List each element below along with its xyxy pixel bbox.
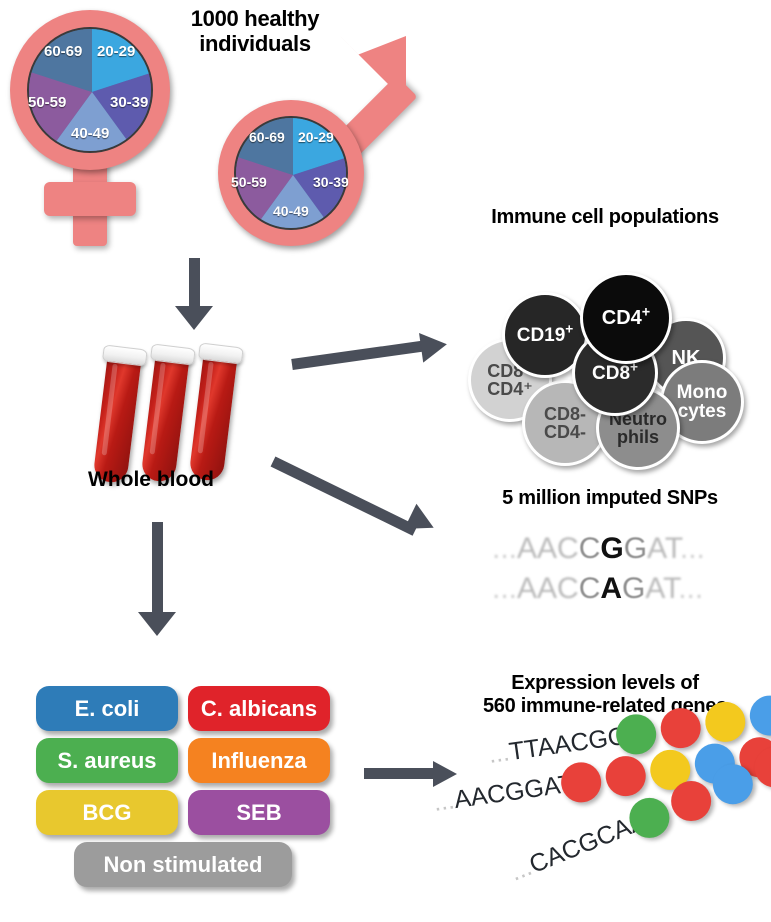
immune-cell-label: CD8-CD4- (544, 405, 586, 441)
pie-label-male-60-69: 60-69 (249, 129, 285, 145)
section-title-snps: 5 million imputed SNPs (450, 487, 770, 510)
pie-label-female-40-49: 40-49 (71, 125, 109, 142)
immune-cell-label: CD4+ (602, 308, 650, 328)
snp-base-after: G (622, 572, 645, 605)
page-title-cohort: 1000 healthy individuals (160, 6, 350, 57)
snp-leading-dots: ... (492, 572, 517, 605)
stimulus-box-e-coli[interactable]: E. coli (36, 686, 178, 731)
stimulus-box-influenza[interactable]: Influenza (188, 738, 330, 783)
snp-leading-dots: ... (492, 532, 517, 565)
dna-sequence-bases: TTAACGG (507, 722, 629, 766)
pie-label-female-60-69: 60-69 (44, 43, 82, 60)
dna-sequence-text: ...TTAACGG (487, 722, 630, 770)
immune-cell-cluster: CD19+CD4+NKCD8+CD8⁺CD4⁺CD8-CD4-Neutrophi… (460, 240, 760, 425)
immune-cell-label: Monocytes (677, 383, 728, 421)
female-cross-horizontal (44, 182, 136, 216)
snp-bases-faint: AAC (517, 572, 579, 605)
stimulus-label: Influenza (211, 748, 306, 774)
snp-base-mid: C (579, 532, 601, 565)
stimulus-box-c-albicans[interactable]: C. albicans (188, 686, 330, 731)
expression-dna-strands: ...TTAACGG...AACGGAT...CACGCAA (470, 735, 770, 920)
expression-title-line1: Expression levels of (440, 672, 770, 695)
tube-blood-fill (92, 353, 141, 484)
stimulus-box-non-stimulated[interactable]: Non stimulated (74, 842, 292, 887)
stimulus-box-seb[interactable]: SEB (188, 790, 330, 835)
stimulus-label: Non stimulated (104, 852, 263, 878)
pie-label-female-20-29: 20-29 (97, 43, 135, 60)
pie-label-male-50-59: 50-59 (231, 174, 267, 190)
stimulus-box-s-aureus[interactable]: S. aureus (36, 738, 178, 783)
snp-base-mid: C (579, 572, 601, 605)
immune-cell-label: CD8+ (592, 364, 638, 383)
immune-cell-cd4: CD4+ (580, 272, 672, 364)
pie-label-female-30-39: 30-39 (110, 94, 148, 111)
snp-row: ...AACCGGAT... (492, 532, 705, 566)
snp-bases-faint: AAC (517, 532, 579, 565)
stimulus-label: S. aureus (57, 748, 156, 774)
stimulus-box-bcg[interactable]: BCG (36, 790, 178, 835)
tube-blood-fill (140, 352, 189, 483)
snp-bases-tail: AT (647, 532, 680, 565)
cohort-title-line2: individuals (160, 31, 350, 56)
snp-base-after: G (624, 532, 647, 565)
snp-row: ...AACCAGAT... (492, 572, 703, 606)
snp-trailing-dots: ... (678, 572, 703, 605)
stimulus-label: BCG (83, 800, 132, 826)
stimulus-label: C. albicans (201, 696, 317, 722)
snp-variant-base: G (600, 532, 623, 565)
snp-bases-tail: AT (645, 572, 678, 605)
stimulus-label: E. coli (75, 696, 140, 722)
stimulus-label: SEB (236, 800, 281, 826)
stimuli-box-group: E. coliC. albicansS. aureusInfluenzaBCGS… (36, 686, 336, 886)
section-title-immune-cells: Immune cell populations (440, 206, 770, 229)
snp-variant-base: A (600, 572, 622, 605)
pie-label-female-50-59: 50-59 (28, 94, 66, 111)
snp-trailing-dots: ... (680, 532, 705, 565)
whole-blood-label: Whole blood (88, 468, 214, 492)
pie-label-male-20-29: 20-29 (298, 129, 334, 145)
cohort-title-line1: 1000 healthy (160, 6, 350, 31)
immune-cell-label: CD19+ (517, 326, 574, 345)
pie-label-male-30-39: 30-39 (313, 174, 349, 190)
tube-blood-fill (188, 351, 237, 482)
pie-label-male-40-49: 40-49 (273, 203, 309, 219)
